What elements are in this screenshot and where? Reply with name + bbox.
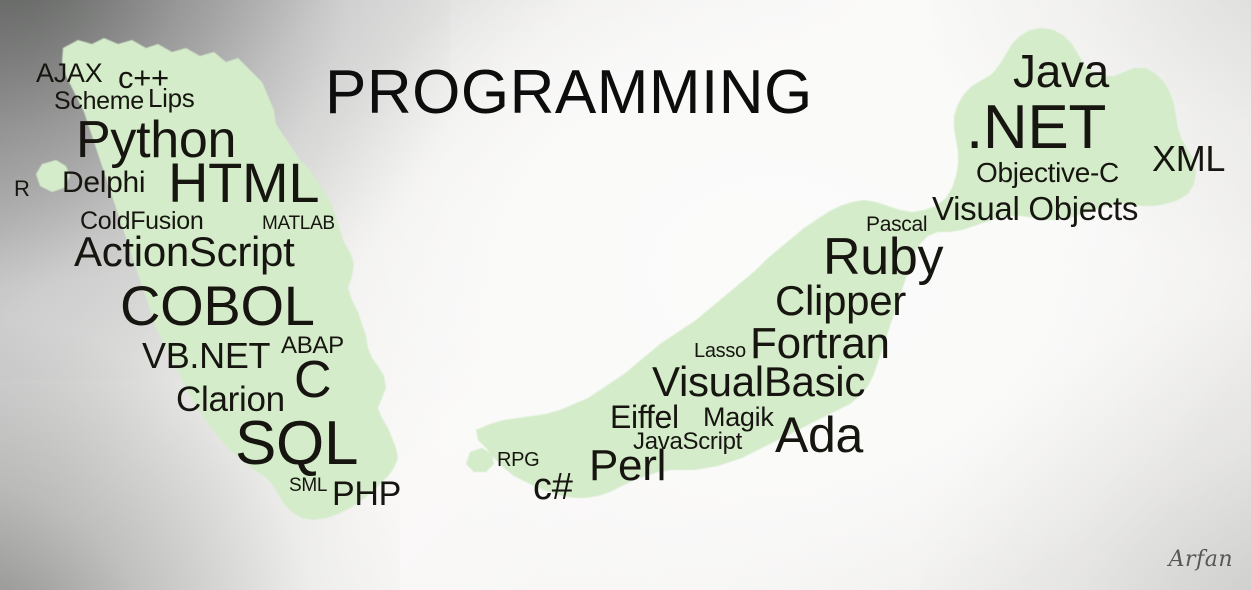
wordcloud-image: AJAXc++SchemeLipsPythonRDelphiHTMLColdFu… (0, 0, 1251, 590)
wordcloud-word: Java (1013, 48, 1109, 94)
wordcloud-word: R (14, 178, 30, 200)
wordcloud-word: Lasso (694, 341, 746, 361)
wordcloud-word: SQL (235, 413, 358, 475)
wordcloud-word: Eiffel (610, 401, 679, 433)
wordcloud-word: VB.NET (142, 338, 270, 374)
wordcloud-word: XML (1152, 141, 1225, 177)
wordcloud-word: c# (533, 468, 573, 506)
wordcloud-word: HTML (168, 155, 319, 211)
wordcloud-word: SML (289, 476, 327, 495)
wordcloud-word: Lips (148, 85, 195, 111)
artist-watermark: Arfan (1169, 547, 1233, 572)
wordcloud-word: Magik (703, 404, 774, 431)
page-title: PROGRAMMING (325, 62, 813, 124)
wordcloud-word: Pascal (866, 214, 927, 235)
wordcloud-word: C (294, 354, 331, 406)
wordcloud-word: Ada (775, 410, 863, 460)
wordcloud-word: COBOL (120, 278, 315, 334)
wordcloud-word: Delphi (62, 168, 145, 198)
wordcloud-word: Visual Objects (932, 192, 1138, 225)
wordcloud-word: Clipper (775, 280, 906, 322)
wordcloud-word: Ruby (823, 231, 943, 283)
wordcloud-word: Objective-C (976, 159, 1119, 187)
wordcloud-word: ActionScript (74, 231, 295, 273)
wordcloud-word: PHP (332, 477, 401, 511)
wordcloud-word: AJAX (36, 60, 102, 87)
wordcloud-word: .NET (966, 97, 1106, 159)
wordcloud-word: Fortran (750, 322, 890, 366)
